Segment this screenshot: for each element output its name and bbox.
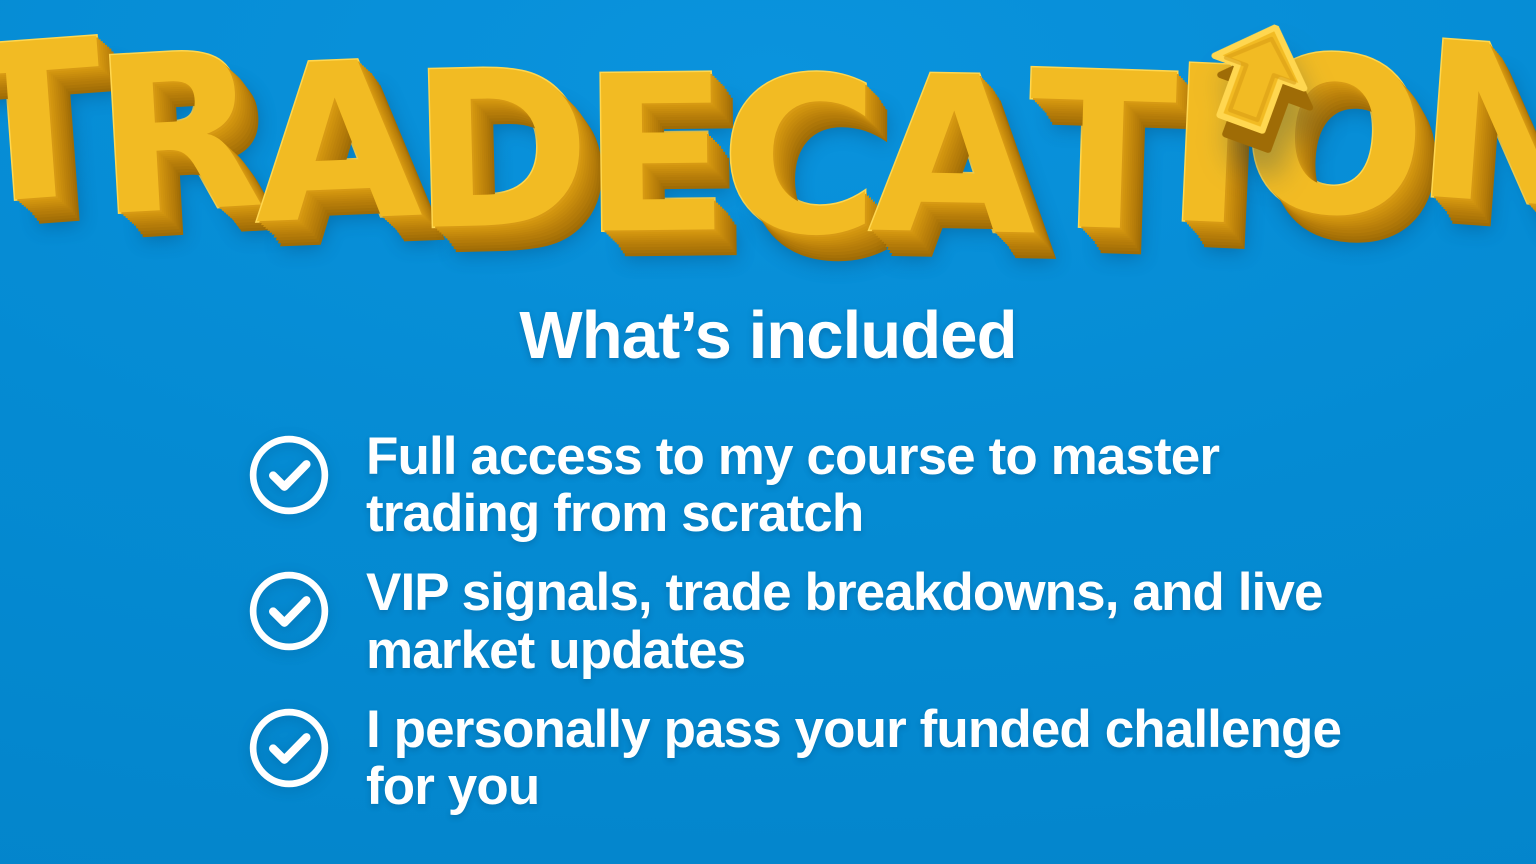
list-item-label: VIP signals, trade breakdowns, and live …	[366, 564, 1376, 678]
list-item-label: Full access to my course to master tradi…	[366, 428, 1376, 542]
wordmark-letter: A	[249, 37, 420, 251]
check-circle-icon	[248, 434, 330, 516]
included-features-list: Full access to my course to master tradi…	[248, 428, 1408, 837]
wordmark-letter: A	[868, 52, 1034, 262]
brand-logo-wordmark: T R A D E C A T I O N	[214, 14, 1322, 299]
wordmark-letter: T	[1025, 47, 1174, 259]
list-item: VIP signals, trade breakdowns, and live …	[248, 564, 1408, 678]
wordmark-letter: D	[409, 45, 589, 257]
check-circle-icon	[248, 570, 330, 652]
wordmark-letter: R	[90, 27, 263, 243]
promo-slide: T R A D E C A T I O N What’s included	[0, 0, 1536, 864]
wordmark-letter: N	[1410, 17, 1536, 237]
check-circle-icon	[248, 707, 330, 789]
brand-logo: T R A D E C A T I O N	[0, 14, 1536, 304]
list-item: Full access to my course to master tradi…	[248, 428, 1408, 542]
wordmark-letter: C	[720, 54, 875, 262]
page-title: What’s included	[0, 297, 1536, 374]
wordmark-letter: E	[581, 51, 726, 260]
list-item: I personally pass your funded challenge …	[248, 701, 1408, 815]
list-item-label: I personally pass your funded challenge …	[366, 701, 1376, 815]
